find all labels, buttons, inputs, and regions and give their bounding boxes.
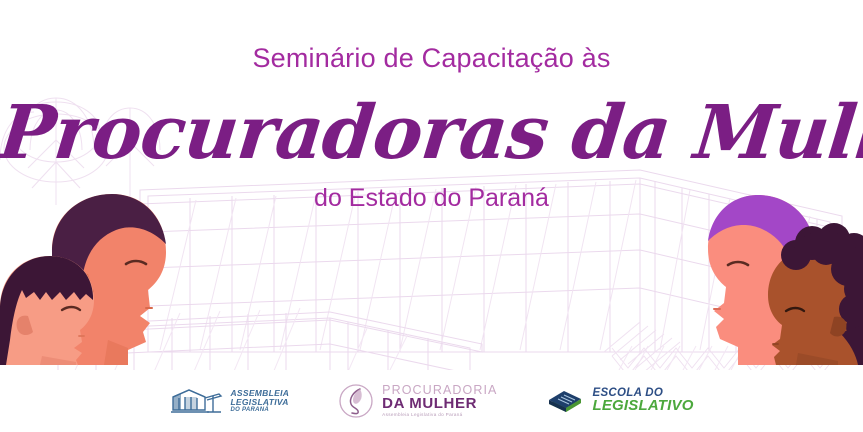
logo-procuradoria-line2: DA MULHER	[382, 396, 497, 412]
logo-escola-text: ESCOLA DO LEGISLATIVO	[592, 388, 693, 414]
woman-profile-circle-icon	[337, 382, 375, 420]
logo-escola-line2: LEGISLATIVO	[592, 398, 693, 414]
banner-subtitle: do Estado do Paraná	[0, 186, 863, 211]
two-women-profiles-right	[688, 193, 863, 370]
logo-assembleia-line3: DO PARANÁ	[230, 407, 289, 413]
assembly-building-icon	[169, 386, 223, 416]
two-women-profiles-left	[0, 190, 200, 370]
banner-title: Procuradoras da Mulher	[0, 96, 863, 170]
logo-assembleia-text: ASSEMBLEIA LEGISLATIVA DO PARANÁ	[230, 389, 289, 413]
event-banner: Seminário de Capacitação às Procuradoras…	[0, 0, 863, 432]
logo-procuradoria-text: PROCURADORIA DA MULHER Assembleia Legisl…	[382, 384, 497, 417]
logo-procuradoria-da-mulher[interactable]: PROCURADORIA DA MULHER Assembleia Legisl…	[337, 382, 497, 420]
logo-escola-do-legislativo[interactable]: ESCOLA DO LEGISLATIVO	[545, 386, 693, 416]
footer-logo-bar: ASSEMBLEIA LEGISLATIVA DO PARANÁ PROCURA…	[0, 370, 863, 432]
headline-block: Seminário de Capacitação às Procuradoras…	[0, 0, 863, 211]
logo-assembleia-line2: LEGISLATIVA	[230, 398, 289, 407]
open-book-icon	[545, 386, 585, 416]
banner-kicker: Seminário de Capacitação às	[0, 45, 863, 72]
logo-assembleia-legislativa[interactable]: ASSEMBLEIA LEGISLATIVA DO PARANÁ	[169, 386, 289, 416]
logo-procuradoria-line3: Assembleia Legislativa do Paraná	[382, 413, 497, 418]
